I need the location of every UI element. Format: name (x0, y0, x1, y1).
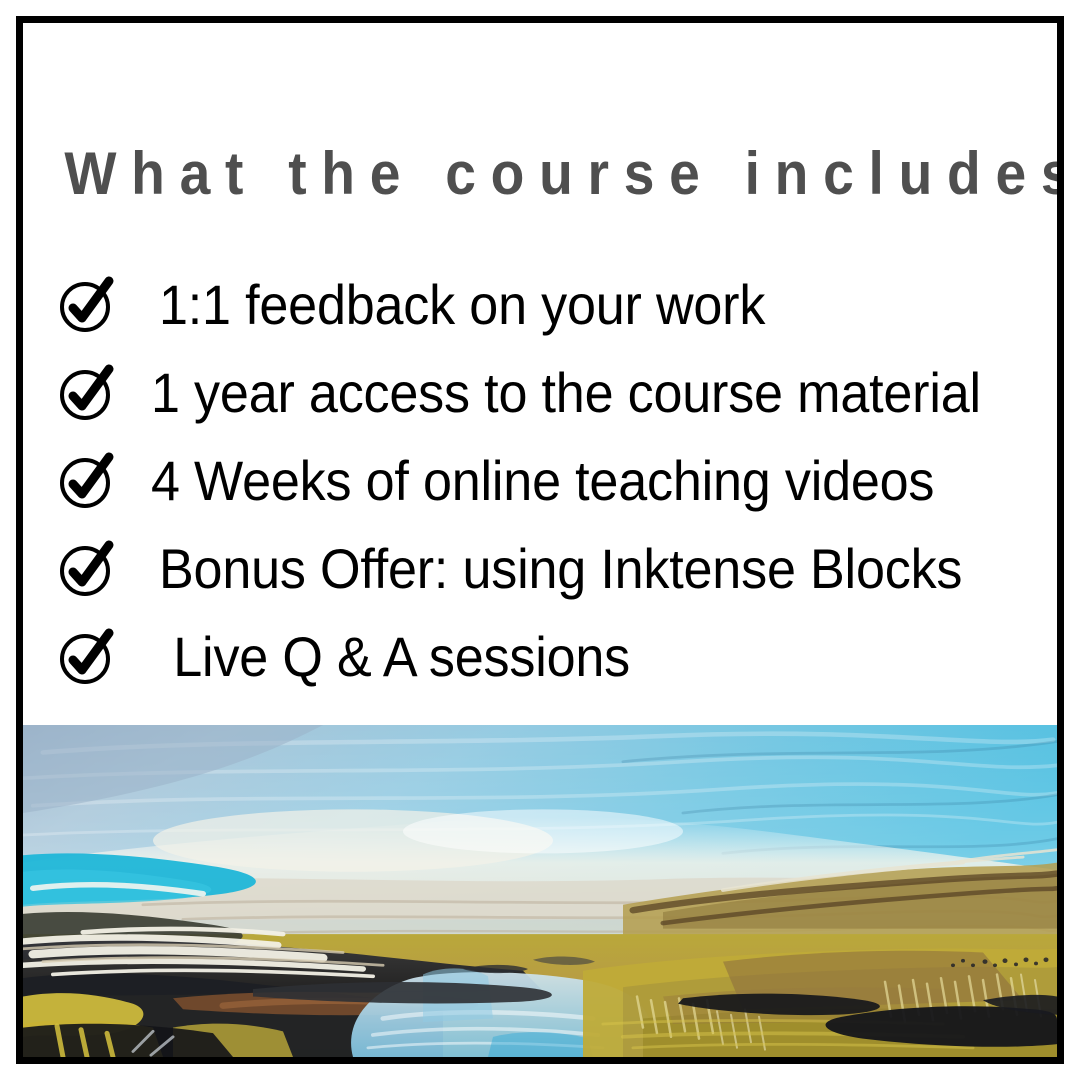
circled-check-icon (55, 273, 119, 337)
list-item: 1 year access to the course material (53, 349, 1053, 437)
page-title: What the course includes (64, 141, 1015, 207)
list-item: 1:1 feedback on your work (53, 261, 1053, 349)
circled-check-icon (55, 625, 119, 689)
list-item-label: 1:1 feedback on your work (159, 277, 990, 333)
circled-check-icon (55, 537, 119, 601)
list-item-label: 4 Weeks of online teaching videos (151, 453, 990, 509)
list-item-label: 1 year access to the course material (151, 365, 990, 421)
abstract-landscape-painting (23, 725, 1057, 1057)
list-item: Live Q & A sessions (53, 613, 1053, 701)
bordered-card: What the course includes 1:1 feedback on… (16, 16, 1064, 1064)
list-item-label: Bonus Offer: using Inktense Blocks (159, 541, 990, 597)
poster-canvas: What the course includes 1:1 feedback on… (0, 0, 1080, 1080)
list-item-label: Live Q & A sessions (159, 629, 990, 685)
list-item: Bonus Offer: using Inktense Blocks (53, 525, 1053, 613)
circled-check-icon (55, 361, 119, 425)
circled-check-icon (55, 449, 119, 513)
course-includes-list: 1:1 feedback on your work 1 year access … (53, 261, 1053, 701)
card-inner: What the course includes 1:1 feedback on… (23, 23, 1057, 1057)
list-item: 4 Weeks of online teaching videos (53, 437, 1053, 525)
